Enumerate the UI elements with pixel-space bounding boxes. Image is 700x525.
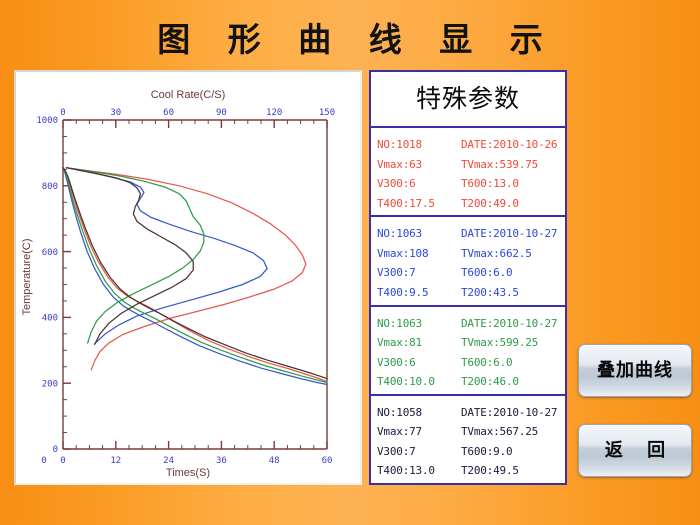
- temperature-cooling-chart: Cool Rate(C/S) Times(S) Temperature(C) 0…: [16, 72, 360, 483]
- svg-text:60: 60: [163, 108, 174, 118]
- param-tvmax: TVmax:662.5: [461, 244, 565, 264]
- svg-text:800: 800: [42, 182, 58, 192]
- return-button[interactable]: 返 回: [578, 424, 692, 477]
- param-t600: T600:9.0: [461, 442, 565, 462]
- param-block-0: NO:1018 DATE:2010-10-26 Vmax:63 TVmax:53…: [371, 128, 565, 217]
- special-parameters-panel: 特殊参数 NO:1018 DATE:2010-10-26 Vmax:63 TVm…: [369, 70, 567, 485]
- param-t600: T600:6.0: [461, 353, 565, 373]
- param-row: NO:1058 DATE:2010-10-27: [377, 403, 565, 423]
- param-t200: T200:46.0: [461, 372, 565, 392]
- param-row: V300:7 T600:9.0: [377, 442, 565, 462]
- param-date: DATE:2010-10-27: [461, 314, 565, 334]
- chart-axes: 0200400600800100001224364860003060901201…: [36, 108, 335, 466]
- top-axis-label: Cool Rate(C/S): [151, 89, 226, 101]
- param-tvmax: TVmax:599.25: [461, 333, 565, 353]
- param-t600: T600:6.0: [461, 263, 565, 283]
- param-no: NO:1063: [377, 314, 461, 334]
- param-block-1: NO:1063 DATE:2010-10-27 Vmax:108 TVmax:6…: [371, 217, 565, 306]
- param-no: NO:1018: [377, 135, 461, 155]
- svg-text:600: 600: [42, 248, 58, 258]
- page-title: 图 形 曲 线 显 示: [0, 20, 700, 60]
- svg-text:60: 60: [322, 456, 333, 466]
- param-date: DATE:2010-10-26: [461, 135, 565, 155]
- svg-text:12: 12: [110, 456, 121, 466]
- svg-text:0: 0: [60, 456, 65, 466]
- param-t400: T400:9.5: [377, 283, 461, 303]
- svg-text:120: 120: [266, 108, 282, 118]
- param-date: DATE:2010-10-27: [461, 403, 565, 423]
- param-t200: T200:49.5: [461, 461, 565, 481]
- param-no: NO:1058: [377, 403, 461, 423]
- param-row: NO:1018 DATE:2010-10-26: [377, 135, 565, 155]
- param-t200: T200:43.5: [461, 283, 565, 303]
- param-row: V300:6 T600:13.0: [377, 174, 565, 194]
- svg-text:0: 0: [60, 108, 65, 118]
- param-t400: T400:10.0: [377, 372, 461, 392]
- param-t600: T600:13.0: [461, 174, 565, 194]
- svg-text:0: 0: [41, 456, 46, 466]
- param-row: V300:7 T600:6.0: [377, 263, 565, 283]
- chart-curves: [63, 168, 327, 385]
- param-vmax: Vmax:63: [377, 155, 461, 175]
- param-tvmax: TVmax:539.75: [461, 155, 565, 175]
- param-row: T400:17.5 T200:49.0: [377, 194, 565, 214]
- param-date: DATE:2010-10-27: [461, 224, 565, 244]
- svg-text:36: 36: [216, 456, 227, 466]
- param-row: Vmax:77 TVmax:567.25: [377, 422, 565, 442]
- svg-text:200: 200: [42, 379, 58, 389]
- svg-text:30: 30: [110, 108, 121, 118]
- svg-text:1000: 1000: [36, 116, 58, 126]
- params-panel-title: 特殊参数: [371, 72, 565, 128]
- param-row: T400:13.0 T200:49.5: [377, 461, 565, 481]
- param-t400: T400:13.0: [377, 461, 461, 481]
- param-row: V300:6 T600:6.0: [377, 353, 565, 373]
- svg-text:90: 90: [216, 108, 227, 118]
- param-vmax: Vmax:77: [377, 422, 461, 442]
- param-row: T400:10.0 T200:46.0: [377, 372, 565, 392]
- svg-text:24: 24: [163, 456, 174, 466]
- y-axis-label: Temperature(C): [21, 238, 33, 315]
- param-v300: V300:6: [377, 174, 461, 194]
- param-t200: T200:49.0: [461, 194, 565, 214]
- param-vmax: Vmax:108: [377, 244, 461, 264]
- bottom-axis-label: Times(S): [166, 467, 210, 479]
- param-v300: V300:7: [377, 442, 461, 462]
- param-no: NO:1063: [377, 224, 461, 244]
- param-block-2: NO:1063 DATE:2010-10-27 Vmax:81 TVmax:59…: [371, 307, 565, 396]
- param-row: Vmax:108 TVmax:662.5: [377, 244, 565, 264]
- param-row: NO:1063 DATE:2010-10-27: [377, 224, 565, 244]
- svg-text:0: 0: [53, 445, 58, 455]
- param-vmax: Vmax:81: [377, 333, 461, 353]
- param-row: NO:1063 DATE:2010-10-27: [377, 314, 565, 334]
- chart-panel: Cool Rate(C/S) Times(S) Temperature(C) 0…: [14, 70, 362, 485]
- param-row: T400:9.5 T200:43.5: [377, 283, 565, 303]
- svg-text:48: 48: [269, 456, 280, 466]
- param-v300: V300:7: [377, 263, 461, 283]
- param-block-3: NO:1058 DATE:2010-10-27 Vmax:77 TVmax:56…: [371, 396, 565, 483]
- param-row: Vmax:63 TVmax:539.75: [377, 155, 565, 175]
- param-tvmax: TVmax:567.25: [461, 422, 565, 442]
- svg-text:150: 150: [319, 108, 335, 118]
- param-row: Vmax:81 TVmax:599.25: [377, 333, 565, 353]
- overlay-curves-button[interactable]: 叠加曲线: [578, 344, 692, 397]
- svg-text:400: 400: [42, 314, 58, 324]
- param-v300: V300:6: [377, 353, 461, 373]
- param-t400: T400:17.5: [377, 194, 461, 214]
